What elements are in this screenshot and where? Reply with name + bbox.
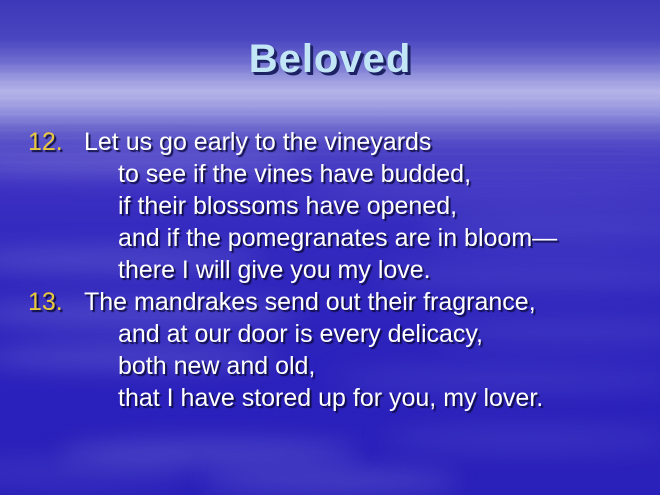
verse-line: 12. Let us go early to the vineyards [0,126,660,158]
verse-line: 13. The mandrakes send out their fragran… [0,286,660,318]
verse-number: 12. [28,126,63,158]
verse-line: if their blossoms have opened, [0,190,660,222]
verse-line-text: there I will give you my love. [118,254,431,286]
verse-block: 12. Let us go early to the vineyards to … [0,126,660,286]
verse-line: there I will give you my love. [0,254,660,286]
verse-body: 12. Let us go early to the vineyards to … [0,126,660,414]
verse-line-text: to see if the vines have budded, [118,158,471,190]
verse-line: to see if the vines have budded, [0,158,660,190]
verse-line: that I have stored up for you, my lover. [0,382,660,414]
verse-block: 13. The mandrakes send out their fragran… [0,286,660,414]
verse-line: both new and old, [0,350,660,382]
verse-line-text: that I have stored up for you, my lover. [118,382,543,414]
slide-title: Beloved [0,37,660,82]
verse-line-text: if their blossoms have opened, [118,190,457,222]
verse-line-text: both new and old, [118,350,315,382]
verse-line-text: Let us go early to the vineyards [84,126,431,158]
verse-line-text: and at our door is every delicacy, [118,318,483,350]
verse-number: 13. [28,286,63,318]
verse-line-text: and if the pomegranates are in bloom— [118,222,557,254]
presentation-slide: Beloved 12. Let us go early to the viney… [0,0,660,495]
verse-line: and if the pomegranates are in bloom— [0,222,660,254]
verse-line-text: The mandrakes send out their fragrance, [84,286,536,318]
verse-line: and at our door is every delicacy, [0,318,660,350]
